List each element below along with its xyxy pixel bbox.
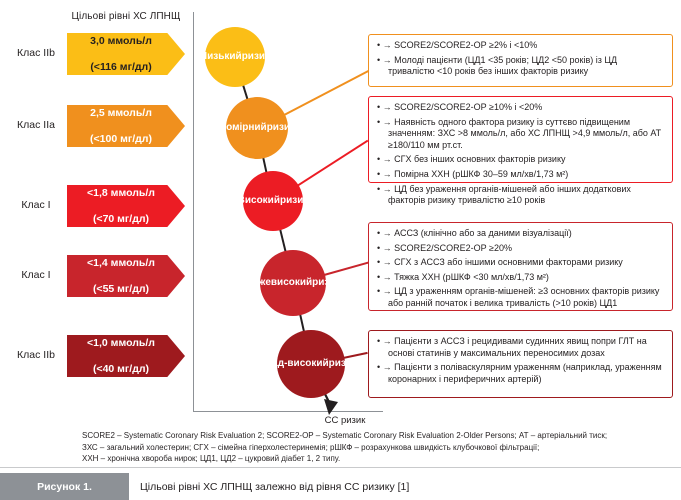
ldl-target-arrow-5: <1,0 ммоль/л (<40 мг/дл) <box>67 335 185 377</box>
criteria-box-extreme: • → Пацієнти з АССЗ і рецидивами судинни… <box>368 330 673 398</box>
criteria-line: • → Молоді пацієнти (ЦД1 <35 років; ЦД2 … <box>377 55 664 78</box>
risk-circle-label: Дуже <box>245 277 270 289</box>
criteria-line: • → SCORE2/SCORE2-OP ≥2% і <10% <box>377 40 664 52</box>
ldl-target-sub-3: (<70 мг/дл) <box>67 213 175 226</box>
criteria-box-high: • → SCORE2/SCORE2-OP ≥10% і <20%• → Наяв… <box>368 96 673 183</box>
criteria-line: • → Тяжка ХХН (рШКФ <30 мл/хв/1,73 м²) <box>377 272 664 284</box>
class-label-3: Клас I <box>8 199 64 211</box>
risk-circle-low: Низькийризик <box>205 27 265 87</box>
figure-number-tag: Рисунок 1. <box>0 473 129 500</box>
criteria-line: • → СГХ без інших основних факторів ризи… <box>377 154 664 166</box>
criteria-line: • → SCORE2/SCORE2-OP ≥10% і <20% <box>377 102 664 114</box>
risk-circle-label: ризик <box>267 122 295 134</box>
class-label-4: Клас I <box>8 269 64 281</box>
criteria-line: • → ЦД з ураженням органів-мішеней: ≥3 о… <box>377 286 664 309</box>
footnote-abbreviations: SCORE2 – Systematic Coronary Risk Evalua… <box>82 430 672 465</box>
ldl-target-main-2: 2,5 ммоль/л <box>67 107 175 120</box>
risk-circle-label: ризик <box>242 51 270 63</box>
risk-circle-label: ризик <box>280 195 308 207</box>
criteria-line: • → ЦД без ураження органів-мішеней або … <box>377 184 664 207</box>
risk-circle-label: Високий <box>238 195 280 207</box>
ldl-column-header: Цільові рівні ХС ЛПНЩ <box>62 11 190 22</box>
criteria-box-moderate: • → SCORE2/SCORE2-OP ≥2% і <10%• → Молод… <box>368 34 673 87</box>
ldl-target-arrow-4: <1,4 ммоль/л (<55 мг/дл) <box>67 255 185 297</box>
risk-circle-high: Високийризик <box>243 171 303 231</box>
criteria-line: • → Пацієнти з АССЗ і рецидивами судинни… <box>377 336 664 359</box>
criteria-line: • → СГХ з АССЗ або іншими основними факт… <box>377 257 664 269</box>
leader-line-3 <box>324 262 369 276</box>
risk-circle-label: високий <box>271 277 312 289</box>
risk-circle-label: ризик <box>312 277 340 289</box>
ldl-target-sub-5: (<40 мг/дл) <box>67 363 175 376</box>
class-label-2: Клас IIa <box>8 119 64 131</box>
x-axis-line <box>193 411 383 412</box>
class-label-1: Клас IIb <box>8 47 64 59</box>
risk-circle-label: Помірний <box>219 122 267 134</box>
ldl-target-main-1: 3,0 ммоль/л <box>67 35 175 48</box>
risk-circle-very-high: Дужевисокийризик <box>260 250 326 316</box>
ldl-target-sub-2: (<100 мг/дл) <box>67 133 175 146</box>
risk-circle-label: високий <box>287 358 328 370</box>
risk-circle-moderate: Помірнийризик <box>226 97 288 159</box>
ldl-target-arrow-3: <1,8 ммоль/л (<70 мг/дл) <box>67 185 185 227</box>
footer-divider <box>0 467 681 468</box>
ldl-target-sub-1: (<116 мг/дл) <box>67 61 175 74</box>
ldl-target-arrow-2: 2,5 ммоль/л (<100 мг/дл) <box>67 105 185 147</box>
ldl-target-arrow-1: 3,0 ммоль/л (<116 мг/дл) <box>67 33 185 75</box>
risk-circle-label: Над- <box>265 358 287 370</box>
criteria-box-very-high: • → АССЗ (клінічно або за даними візуалі… <box>368 222 673 311</box>
figure-caption-text: Цільові рівні ХС ЛПНЩ залежно від рівня … <box>140 473 409 500</box>
criteria-line: • → Помірна ХХН (рШКФ 30–59 мл/хв/1,73 м… <box>377 169 664 181</box>
footnote-line-2: ЗХС – загальний холестерин; СГХ – сімейн… <box>82 442 672 454</box>
risk-circle-label: ризик <box>329 358 357 370</box>
ldl-target-main-3: <1,8 ммоль/л <box>67 187 175 200</box>
criteria-line: • → Пацієнти з поліваскулярним ураженням… <box>377 362 664 385</box>
ldl-target-main-5: <1,0 ммоль/л <box>67 337 175 350</box>
class-label-5: Клас IIb <box>8 349 64 361</box>
risk-circle-extreme: Над-високийризик <box>277 330 345 398</box>
criteria-line: • → АССЗ (клінічно або за даними візуалі… <box>377 228 664 240</box>
y-axis-line <box>193 12 194 412</box>
ldl-target-main-4: <1,4 ммоль/л <box>67 257 175 270</box>
leader-line-2 <box>297 140 368 187</box>
leader-line-1 <box>283 70 368 115</box>
footnote-line-1: SCORE2 – Systematic Coronary Risk Evalua… <box>82 430 672 442</box>
criteria-line: • → Наявність одного фактора ризику із с… <box>377 117 664 152</box>
footnote-line-3: ХХН – хронічна хвороба нирок; ЦД1, ЦД2 –… <box>82 453 672 465</box>
criteria-line: • → SCORE2/SCORE2-OP ≥20% <box>377 243 664 255</box>
risk-circle-label: Низький <box>200 51 242 63</box>
figure-canvas: Цільові рівні ХС ЛПНЩ Клас IIb Клас IIa … <box>0 0 681 500</box>
ldl-target-sub-4: (<55 мг/дл) <box>67 283 175 296</box>
